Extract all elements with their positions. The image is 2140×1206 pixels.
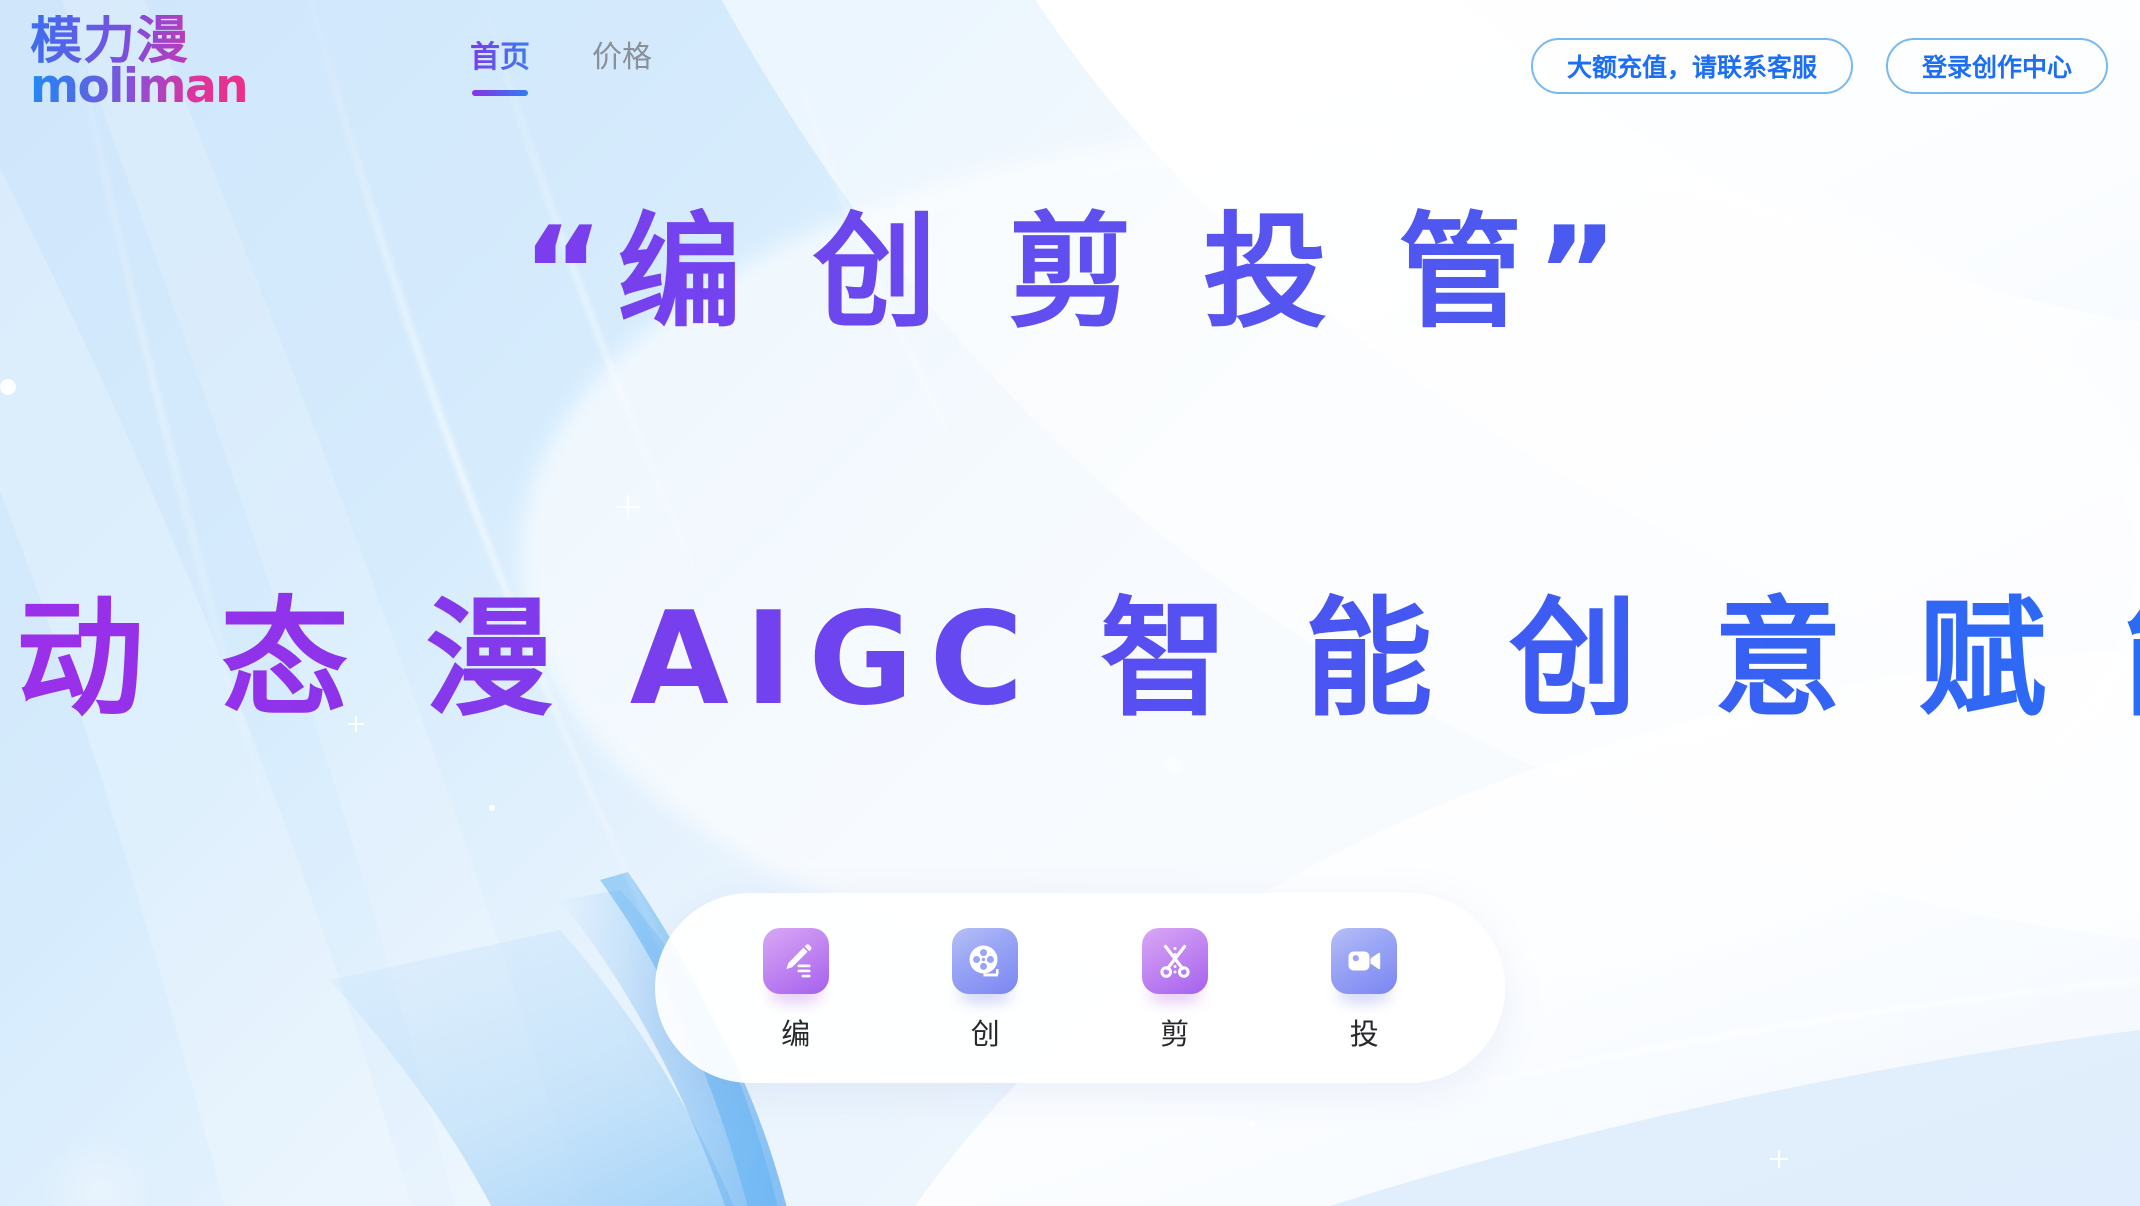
scissors-icon — [1142, 928, 1208, 994]
feature-pills-card: 编 创 — [655, 893, 1505, 1083]
brand-logo-en: moliman — [30, 63, 260, 110]
feature-item-edit[interactable]: 编 — [736, 928, 856, 1049]
brand-logo[interactable]: 模力漫 moliman — [30, 6, 260, 118]
feature-label-cut: 剪 — [1160, 1020, 1189, 1049]
contact-support-recharge-button[interactable]: 大额充值，请联系客服 — [1531, 38, 1853, 94]
feature-label-create: 创 — [971, 1020, 1000, 1049]
nav-item-home[interactable]: 首页 — [470, 38, 530, 96]
site-header: 模力漫 moliman 首页 价格 大额充值，请联系客服 登录创作中心 — [0, 0, 2140, 118]
nav-item-pricing[interactable]: 价格 — [592, 38, 652, 96]
feature-label-publish: 投 — [1350, 1020, 1379, 1049]
feature-item-cut[interactable]: 剪 — [1115, 928, 1235, 1049]
video-camera-icon — [1331, 928, 1397, 994]
header-actions: 大额充值，请联系客服 登录创作中心 — [1531, 38, 2108, 94]
feature-label-edit: 编 — [781, 1020, 810, 1049]
film-reel-icon — [952, 928, 1018, 994]
pencil-edit-icon — [763, 928, 829, 994]
login-creator-center-button[interactable]: 登录创作中心 — [1886, 38, 2108, 94]
feature-item-create[interactable]: 创 — [925, 928, 1045, 1049]
feature-item-publish[interactable]: 投 — [1304, 928, 1424, 1049]
main-navigation: 首页 价格 — [470, 38, 652, 96]
